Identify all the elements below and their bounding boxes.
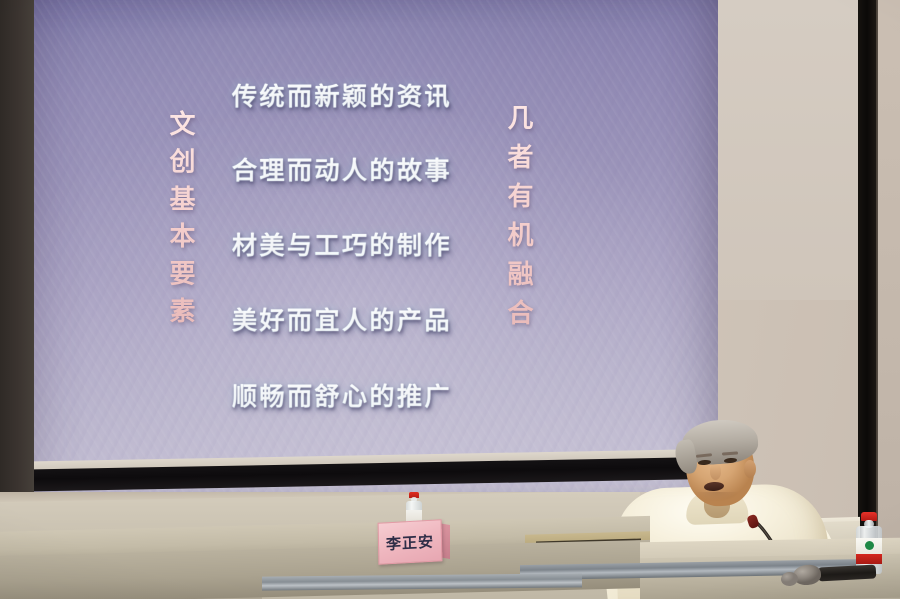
nameplate: 李正安	[378, 519, 443, 565]
lecture-hall-screenshot: 文创基本要素 传统而新颖的资讯 合理而动人的故事 材美与工巧的制作 美好而宜人的…	[0, 0, 900, 599]
screen-texture-secondary	[34, 0, 718, 492]
bottle-label-logo	[865, 541, 874, 550]
screen-texture	[34, 0, 718, 492]
projection-screen	[34, 0, 718, 492]
far-right-wall	[878, 0, 900, 599]
nameplate-text: 李正安	[386, 530, 434, 554]
projector-hotspot	[34, 0, 718, 492]
bottle-label	[406, 510, 422, 521]
bottle-label-band	[856, 554, 882, 564]
speaker-nose	[710, 464, 721, 480]
left-wall-pillar	[0, 0, 34, 492]
speaker-ear	[744, 460, 756, 478]
speaker-chin-shadow	[694, 492, 740, 504]
